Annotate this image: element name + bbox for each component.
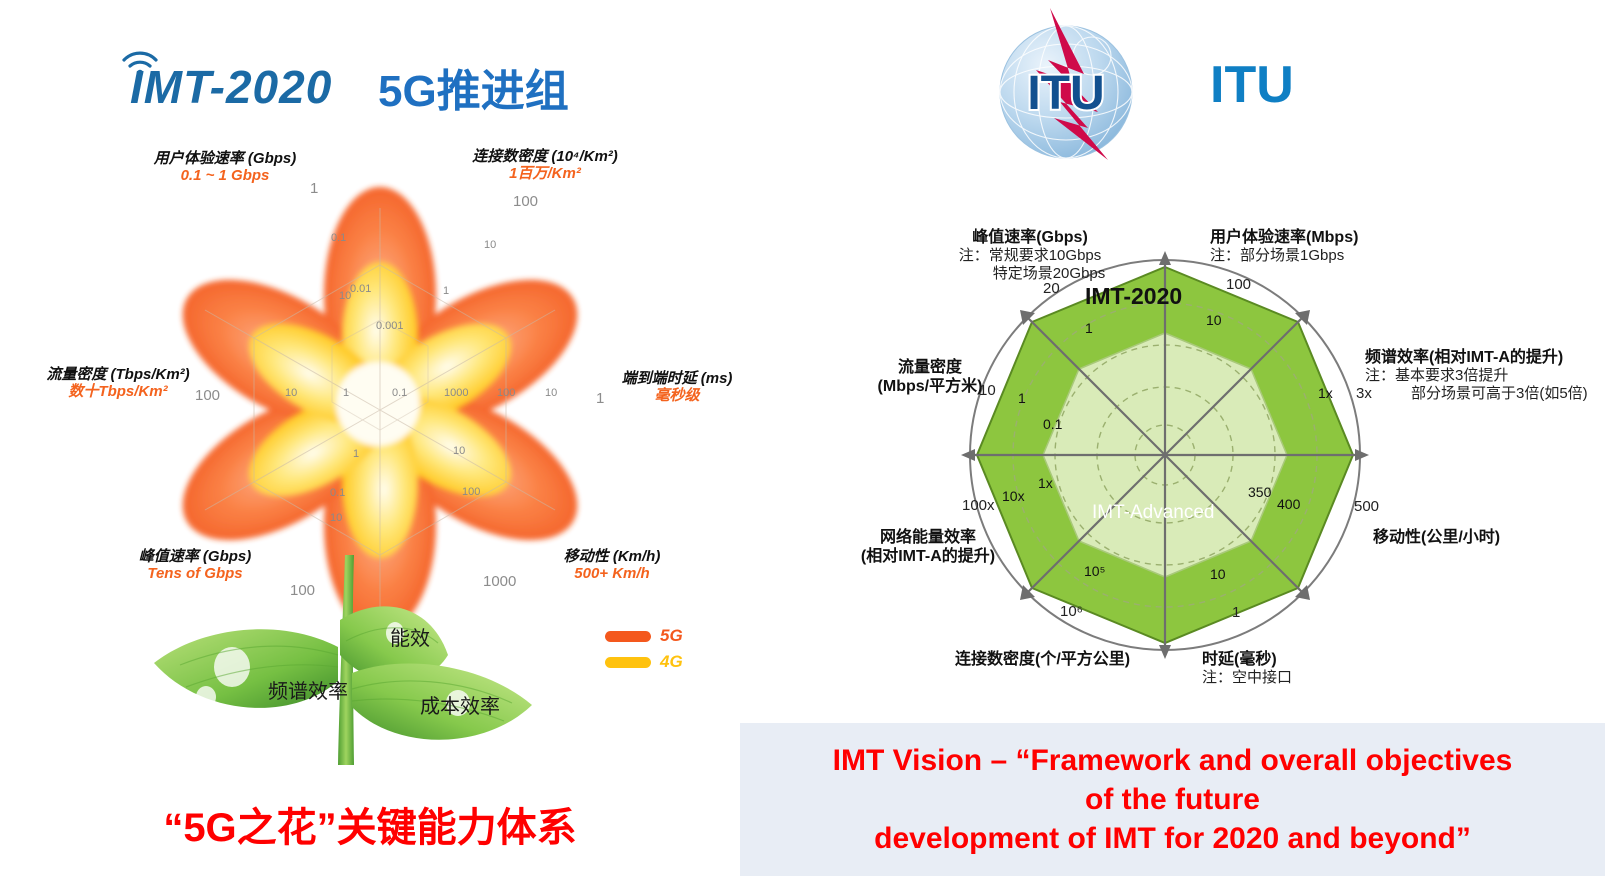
axis-label-connection-density: 连接数密度(个/平方公里) [955,650,1205,669]
axis-tick-latency-1: 1000 [444,387,468,399]
imt-vision-banner: IMT Vision – “Framework and overall obje… [740,723,1605,876]
kpi-name: 峰值速率 (Gbps) [85,548,305,565]
banner-line-3: development of IMT for 2020 and beyond” [874,819,1471,858]
axis-label-spectrum-efficiency: 频谱效率(相对IMT-A的提升) 注：基本要求3倍提升 部分场景可高于3倍(如5… [1365,348,1605,403]
group-title: 5G推进组 [378,55,569,119]
axis-tick-user-rate-1: 0.1 [331,232,346,244]
axis-label-mobility: 移动性(公里/小时) [1373,528,1603,547]
axis-title: 连接数密度(个/平方公里) [955,650,1205,669]
axis-tick-user-rate-3: 0.001 [376,320,404,332]
svg-text:ITU: ITU [1027,67,1104,120]
tick-user-rate-outer: 100 [1226,276,1251,293]
axis-label-peak-data-rate: 峰值速率(Gbps) 注：常规要求10Gbps 特定场景20Gbps [935,228,1125,283]
axis-tick-latency-max: 1 [596,390,604,407]
kpi-value: Tens of Gbps [85,565,305,582]
chart-label-imt-advanced: IMT-Advanced [1092,502,1215,524]
kpi-name: 连接数密度 (10⁴/Km²) [400,148,690,165]
axis-title: 时延(毫秒) [1202,650,1372,669]
leaf-label-spectral-efficiency: 频谱效率 [268,675,348,704]
axis-title-line-1: 流量密度 [835,358,1025,377]
leaf-label-cost-efficiency: 成本效率 [420,690,500,719]
axis-title: 峰值速率(Gbps) [935,228,1125,247]
tick-conn-density-inner: 10⁵ [1084,563,1105,579]
tick-traffic-inner: 1 [1018,390,1026,406]
itu-wordmark: ITU [1210,55,1294,115]
axis-label-area-traffic-capacity: 流量密度 (Mbps/平方米) [835,358,1025,396]
flower-legend: 5G 4G [605,623,725,675]
axis-tick-conn-density-2: 1 [443,285,449,297]
tick-spectrum-inner: 1x [1318,385,1333,401]
kpi-mobility: 移动性 (Km/h) 500+ Km/h [512,548,712,583]
tick-energy-inner: 10x [1002,488,1025,504]
tick-energy-extra: 1x [1038,475,1053,491]
legend-label-5g: 5G [660,626,683,646]
kpi-value: 1百万/Km² [400,165,690,182]
kpi-value: 0.1 ~ 1 Gbps [80,167,370,184]
axis-tick-peak-rate-2: 1 [353,448,359,460]
kpi-peak-rate: 峰值速率 (Gbps) Tens of Gbps [85,548,305,583]
axis-note-1: 注：基本要求3倍提升 [1365,367,1605,385]
tick-spectrum-outer: 3x [1356,385,1372,402]
axis-label-latency: 时延(毫秒) 注：空中接口 [1202,650,1372,687]
tick-mobility-inner: 350 [1248,484,1271,500]
axis-label-user-experienced-rate: 用户体验速率(Mbps) 注：部分场景1Gbps [1210,228,1440,265]
itu-globe-lightning-icon: ITU [988,8,1168,168]
tick-latency-outer: 1 [1232,604,1240,621]
flower-caption: “5G之花”关键能力体系 [0,795,740,853]
axis-tick-latency-2: 100 [497,387,515,399]
axis-tick-conn-density-max: 100 [513,193,538,210]
axis-tick-traffic-density-2: 1 [343,387,349,399]
axis-tick-traffic-density-1: 10 [285,387,297,399]
legend-label-4g: 4G [660,652,683,672]
tick-peak-rate-outer: 20 [1043,280,1060,297]
axis-note-2: 部分场景可高于3倍(如5倍) [1365,385,1605,403]
axis-title-line-1: 网络能量效率 [828,528,1028,547]
axis-tick-peak-rate-4: 10 [330,512,342,524]
tick-mobility-extra: 400 [1277,496,1300,512]
axis-title: 移动性(公里/小时) [1373,528,1603,547]
kpi-name: 流量密度 (Tbps/Km²) [8,366,228,383]
tick-user-rate-inner: 10 [1206,312,1222,328]
imt-vision-panel: ITU ITU IMT-2020 IMT-Advanced [740,0,1605,876]
axis-title: 用户体验速率(Mbps) [1210,228,1440,247]
kpi-name: 移动性 (Km/h) [512,548,712,565]
tick-traffic-extra: 0.1 [1043,416,1062,432]
axis-tick-mobility-1: 100 [462,486,480,498]
legend-swatch-5g [605,631,651,642]
axis-title: 频谱效率(相对IMT-A的提升) [1365,348,1605,367]
axis-title-line-2: (Mbps/平方米) [835,377,1025,396]
axis-tick-latency-3: 10 [545,387,557,399]
five-g-flower-panel: IMT-2020 5G推进组 [0,0,740,876]
axis-note-2: 特定场景20Gbps [935,265,1125,283]
axis-tick-mobility-2: 10 [453,445,465,457]
axis-tick-conn-density-1: 10 [484,239,496,251]
legend-item-5g: 5G [605,623,725,649]
chart-label-imt-2020: IMT-2020 [1085,283,1182,310]
kpi-value: 毫秒级 [612,387,742,404]
axis-note-1: 注：部分场景1Gbps [1210,247,1440,265]
tick-conn-density-outer: 10⁶ [1060,603,1083,620]
tick-traffic-outer: 10 [979,382,996,399]
tick-mobility-outer: 500 [1354,498,1379,515]
kpi-name: 用户体验速率 (Gbps) [80,150,370,167]
axis-note-1: 注：空中接口 [1202,669,1372,687]
tick-energy-outer: 100x [962,497,995,514]
legend-item-4g: 4G [605,649,725,675]
kpi-connection-density: 连接数密度 (10⁴/Km²) 1百万/Km² [400,148,690,183]
kpi-value: 500+ Km/h [512,565,712,582]
kpi-name: 端到端时延 (ms) [612,370,742,387]
axis-tick-peak-rate-max: 100 [290,582,315,599]
axis-tick-center: 0.1 [392,387,407,399]
axis-tick-user-rate-2: 0.01 [350,283,371,295]
banner-line-1: IMT Vision – “Framework and overall obje… [833,741,1513,780]
axis-title-line-2: (相对IMT-A的提升) [828,547,1028,566]
imt-2020-wordmark: IMT-2020 [130,60,332,114]
leaf-label-energy-efficiency: 能效 [390,622,430,651]
axis-note-1: 注：常规要求10Gbps [935,247,1125,265]
axis-tick-mobility-max: 1000 [483,573,516,590]
kpi-user-experienced-rate: 用户体验速率 (Gbps) 0.1 ~ 1 Gbps [80,150,370,185]
axis-label-network-energy-efficiency: 网络能量效率 (相对IMT-A的提升) [828,528,1028,566]
axis-tick-peak-rate-1: 10 [339,290,351,302]
tick-peak-rate-inner: 1 [1085,320,1093,336]
axis-tick-traffic-density-max: 100 [195,387,220,404]
kpi-end-to-end-latency: 端到端时延 (ms) 毫秒级 [612,370,742,405]
axis-tick-peak-rate-3: 0.1 [330,487,345,499]
legend-swatch-4g [605,657,651,668]
tick-latency-inner: 10 [1210,566,1226,582]
axis-tick-user-rate-max: 1 [310,180,318,197]
banner-line-2: of the future [1085,780,1260,819]
